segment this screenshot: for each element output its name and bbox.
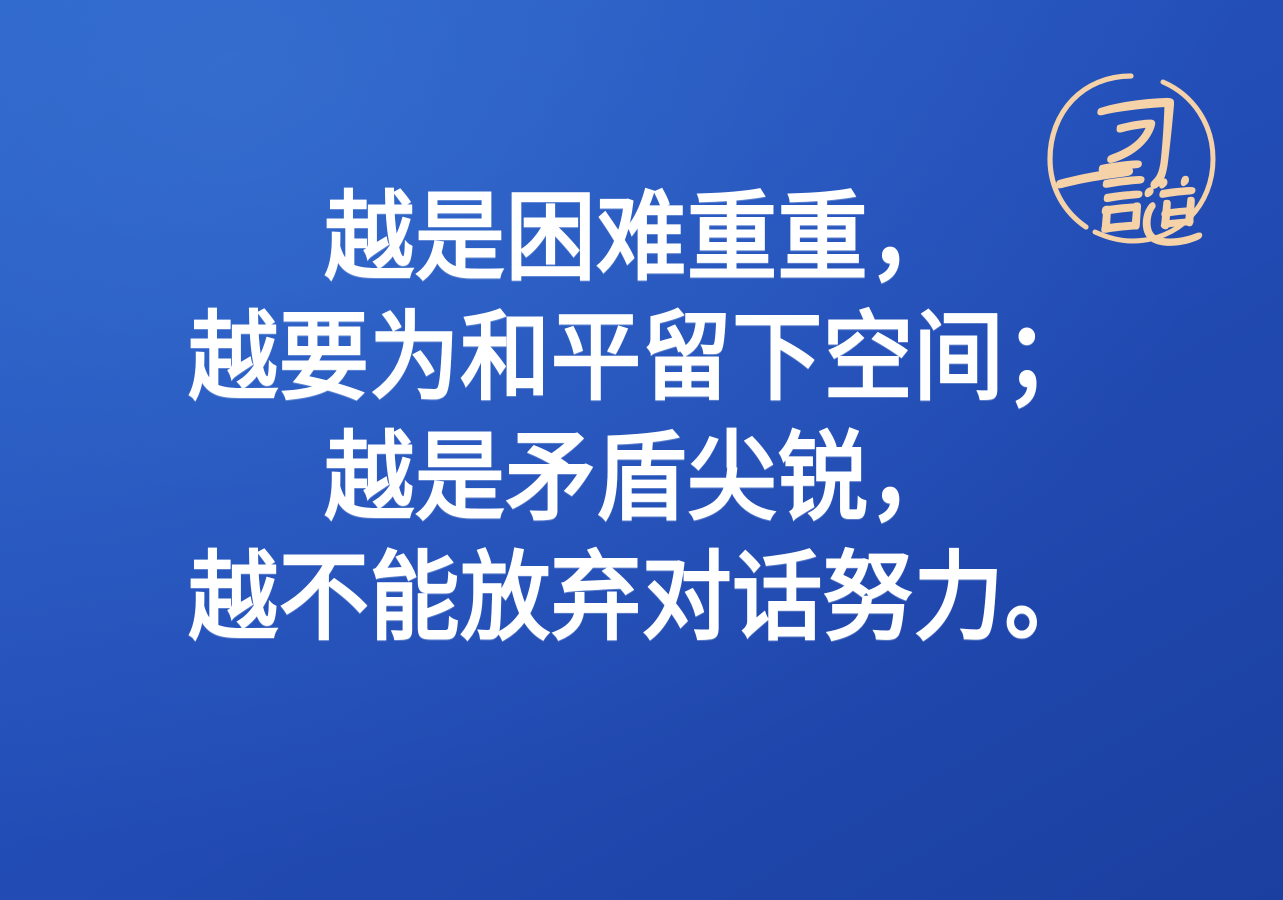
poster-canvas: 习言道 [0,0,1283,900]
quote-line-2: 越要为和平留下空间； [45,298,1238,418]
quote-line-4: 越不能放弃对话努力。 [45,538,1238,658]
quote-line-3: 越是矛盾尖锐， [45,418,1238,538]
quote-line-1: 越是困难重重， [45,178,1238,298]
quote-block: 越是困难重重， 越要为和平留下空间； 越是矛盾尖锐， 越不能放弃对话努力。 [0,178,1283,658]
